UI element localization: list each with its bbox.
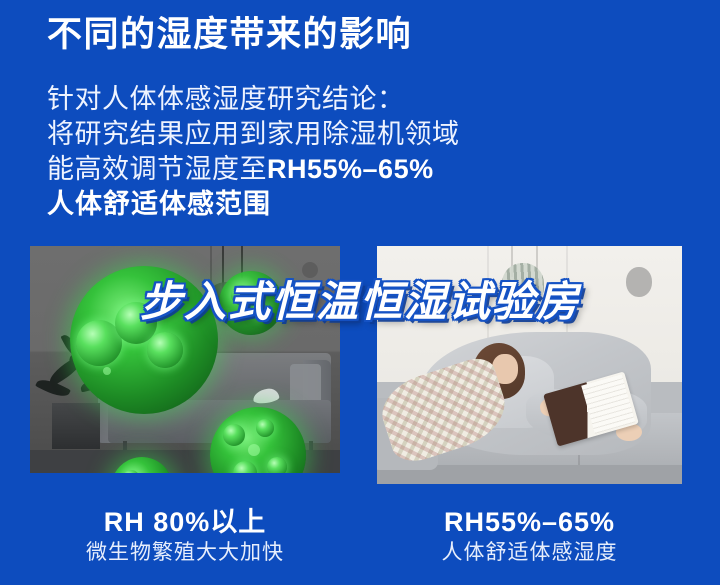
captions: RH 80%以上 微生物繁殖大大加快 RH55%–65% 人体舒适体感湿度: [0, 506, 720, 576]
microbe-icon: [70, 266, 218, 414]
body-line-4: 人体舒适体感范围: [47, 187, 460, 222]
caption-subtitle: 微生物繁殖大大加快: [30, 538, 340, 568]
body-line-3-normal: 能高效调节湿度至: [47, 154, 267, 184]
book-pages: [581, 375, 635, 434]
caption-high-humidity: RH 80%以上 微生物繁殖大大加快: [30, 506, 340, 568]
sofa-cushion: [290, 364, 321, 405]
body-line-1: 针对人体体感湿度研究结论：: [47, 82, 460, 117]
body-line-2: 将研究结果应用到家用除湿机领域: [47, 117, 460, 152]
photo-panels: [0, 246, 720, 474]
caption-comfort-humidity: RH55%–65% 人体舒适体感湿度: [377, 506, 682, 568]
body-line-3-bold: RH55%–65%: [267, 154, 434, 184]
caption-title: RH 80%以上: [30, 506, 340, 538]
light-room-scene: [377, 246, 682, 484]
caption-title: RH55%–65%: [377, 506, 682, 538]
body-line-3: 能高效调节湿度至RH55%–65%: [47, 152, 460, 187]
wall-decor-icon: [626, 267, 652, 297]
hanging-plant-icon: [502, 263, 544, 305]
microbe-icon: [219, 271, 283, 335]
infographic-root: 不同的湿度带来的影响 针对人体体感湿度研究结论： 将研究结果应用到家用除湿机领域…: [0, 0, 720, 585]
dark-room-scene: [30, 246, 340, 473]
plant-pot: [52, 403, 100, 449]
wall-decor-icon: [302, 262, 318, 278]
photo-comfort-humidity: [377, 246, 682, 484]
caption-subtitle: 人体舒适体感湿度: [377, 538, 682, 568]
page-title: 不同的湿度带来的影响: [47, 14, 412, 55]
body-copy: 针对人体体感湿度研究结论： 将研究结果应用到家用除湿机领域 能高效调节湿度至RH…: [47, 82, 460, 222]
photo-high-humidity: [30, 246, 340, 473]
